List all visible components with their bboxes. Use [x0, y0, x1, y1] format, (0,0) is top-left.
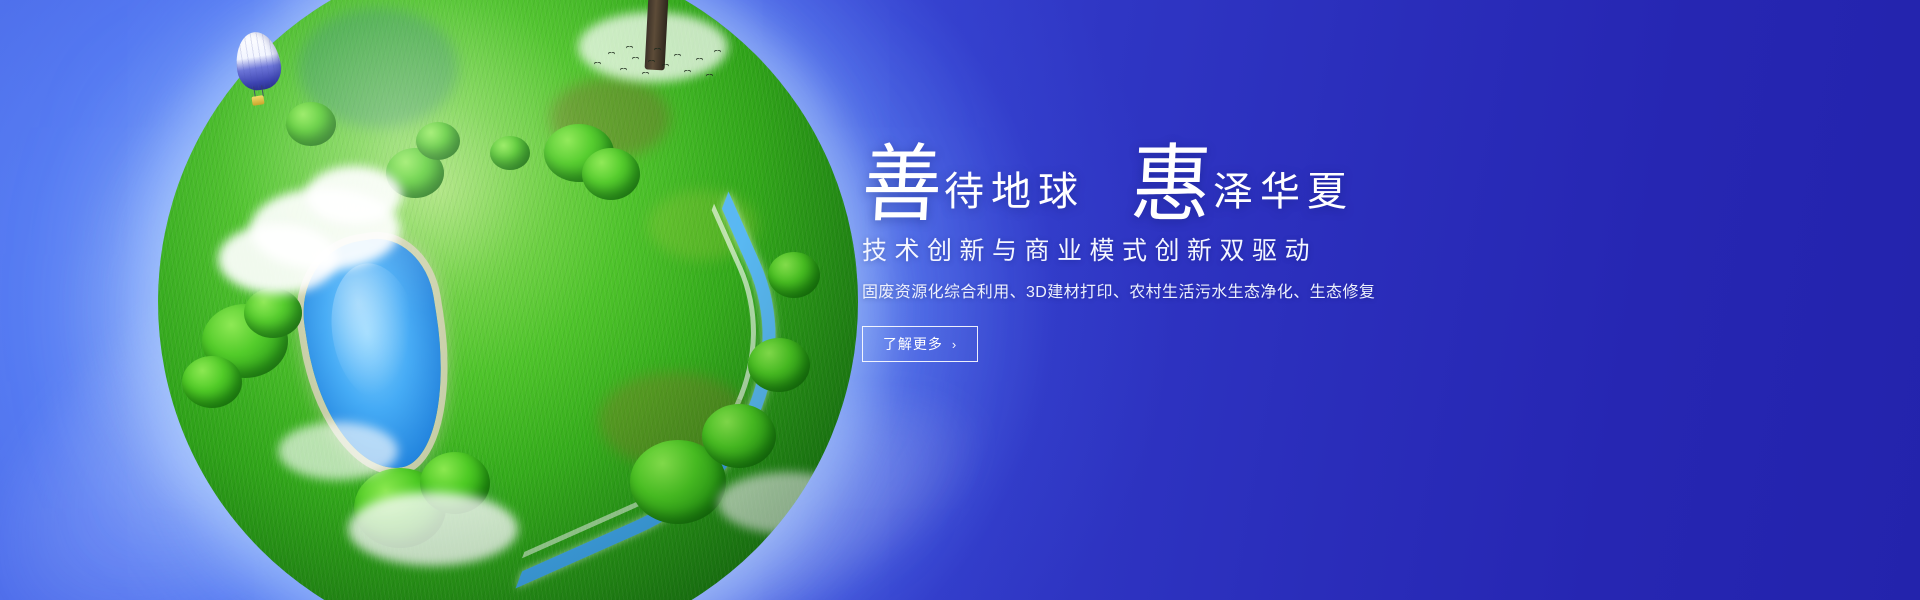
terrain-patch: [368, 456, 498, 546]
bush-icon: [702, 404, 776, 468]
bush-icon: [354, 468, 446, 548]
balloon-basket: [251, 95, 264, 106]
bush-icon: [490, 136, 530, 170]
cloud-icon: [306, 166, 402, 224]
bush-icon: [286, 102, 336, 146]
cloud-icon: [348, 492, 518, 566]
bush-icon: [544, 124, 614, 182]
banner-description: 固废资源化综合利用、3D建材打印、农村生活污水生态净化、生态修复: [862, 282, 1682, 304]
cloud-icon: [250, 188, 400, 270]
lake-icon: [293, 231, 459, 479]
cloud-icon: [218, 224, 338, 294]
bush-icon: [748, 338, 810, 392]
terrain-patch: [648, 190, 758, 260]
banner-subtitle: 技术创新与商业模式创新双驱动: [862, 236, 1682, 266]
bush-icon: [630, 440, 726, 524]
page-title: 善 待地球 惠 泽华夏: [862, 126, 1682, 218]
headline-primary-char-2: 惠: [1129, 148, 1213, 226]
bush-icon: [582, 148, 640, 200]
headline-secondary-chars-2: 泽华夏: [1213, 172, 1354, 212]
learn-more-button[interactable]: 了解更多 ›: [862, 326, 978, 362]
bush-icon: [244, 288, 302, 338]
terrain-patch: [599, 372, 749, 468]
bush-icon: [202, 304, 288, 378]
banner-content: 善 待地球 惠 泽华夏 技术创新与商业模式创新双驱动 固废资源化综合利用、3D建…: [862, 126, 1682, 362]
bush-icon: [386, 148, 444, 198]
bush-icon: [768, 252, 820, 298]
balloon-envelope: [232, 29, 285, 93]
terrain-patch: [298, 8, 458, 128]
chevron-right-icon: ›: [952, 338, 957, 351]
learn-more-label: 了解更多: [883, 334, 943, 354]
bush-icon: [182, 356, 242, 408]
headline-secondary-chars-1: 待地球: [944, 172, 1085, 212]
headline-primary-char-1: 善: [860, 148, 944, 226]
bird-flock-icon: [592, 44, 722, 92]
river-highlight: [422, 204, 814, 559]
hot-air-balloon-icon: [236, 32, 280, 110]
hero-banner: 善 待地球 惠 泽华夏 技术创新与商业模式创新双驱动 固废资源化综合利用、3D建…: [0, 0, 1920, 600]
cloud-icon: [278, 422, 398, 480]
bush-icon: [416, 122, 460, 160]
bush-icon: [420, 452, 490, 514]
cloud-icon: [718, 472, 858, 534]
